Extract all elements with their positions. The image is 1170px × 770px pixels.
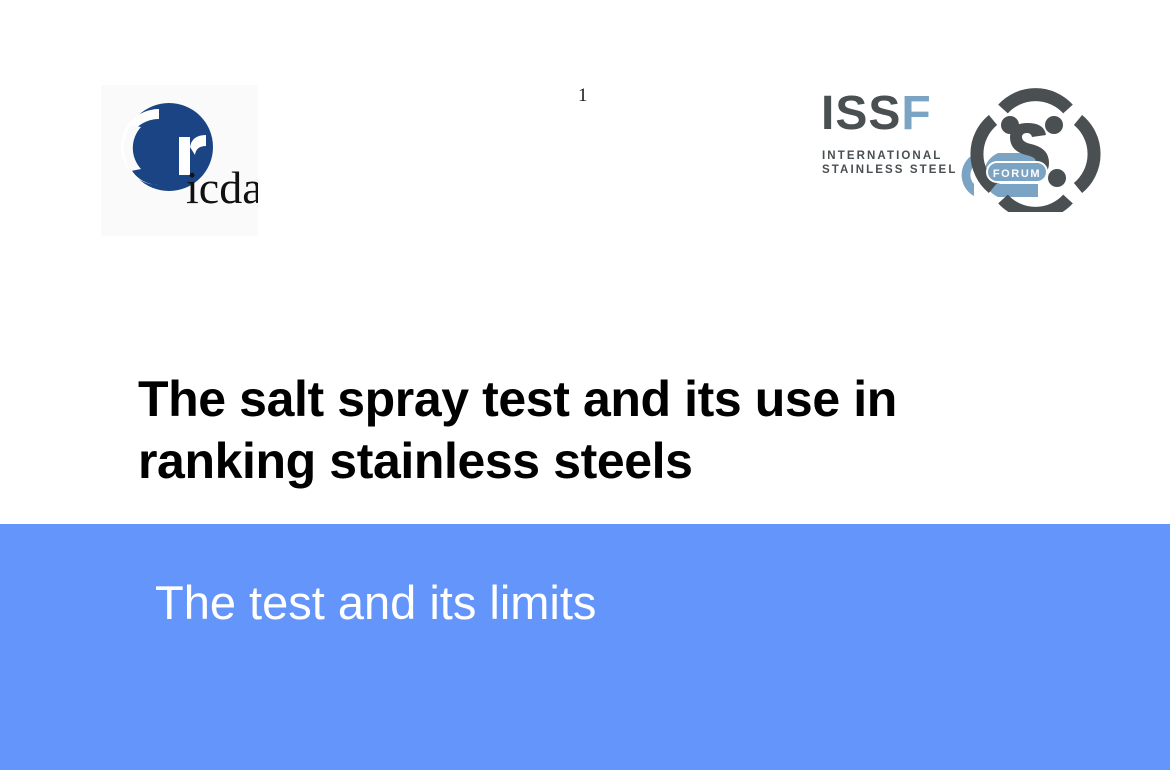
icda-logo: icda	[101, 85, 258, 236]
issf-wordmark-iss: ISS	[821, 87, 901, 140]
icda-logo-icon: icda	[101, 85, 258, 236]
issf-wordmark-f: F	[901, 87, 931, 140]
issf-wordmark: ISSF	[821, 90, 932, 138]
issf-emblem-icon: FORUM	[942, 82, 1112, 212]
issf-subtitle-line2: STAINLESS STEEL	[822, 163, 957, 177]
svg-text:icda: icda	[186, 162, 258, 213]
issf-subtitle: INTERNATIONAL STAINLESS STEEL	[822, 149, 957, 177]
slide-title-line-2: ranking stainless steels	[138, 430, 1038, 492]
page-number: 1	[578, 86, 588, 105]
presentation-slide: icda 1 ISSF INTERNATIONAL STAINLESS STEE…	[0, 0, 1170, 770]
section-band-title: The test and its limits	[155, 574, 596, 632]
issf-forum-badge-text: FORUM	[993, 168, 1041, 180]
slide-title: The salt spray test and its use in ranki…	[138, 368, 1038, 492]
section-band	[0, 524, 1170, 770]
issf-logo: ISSF INTERNATIONAL STAINLESS STEEL	[812, 82, 1112, 212]
slide-title-line-1: The salt spray test and its use in	[138, 368, 1038, 430]
issf-subtitle-line1: INTERNATIONAL	[822, 149, 957, 163]
